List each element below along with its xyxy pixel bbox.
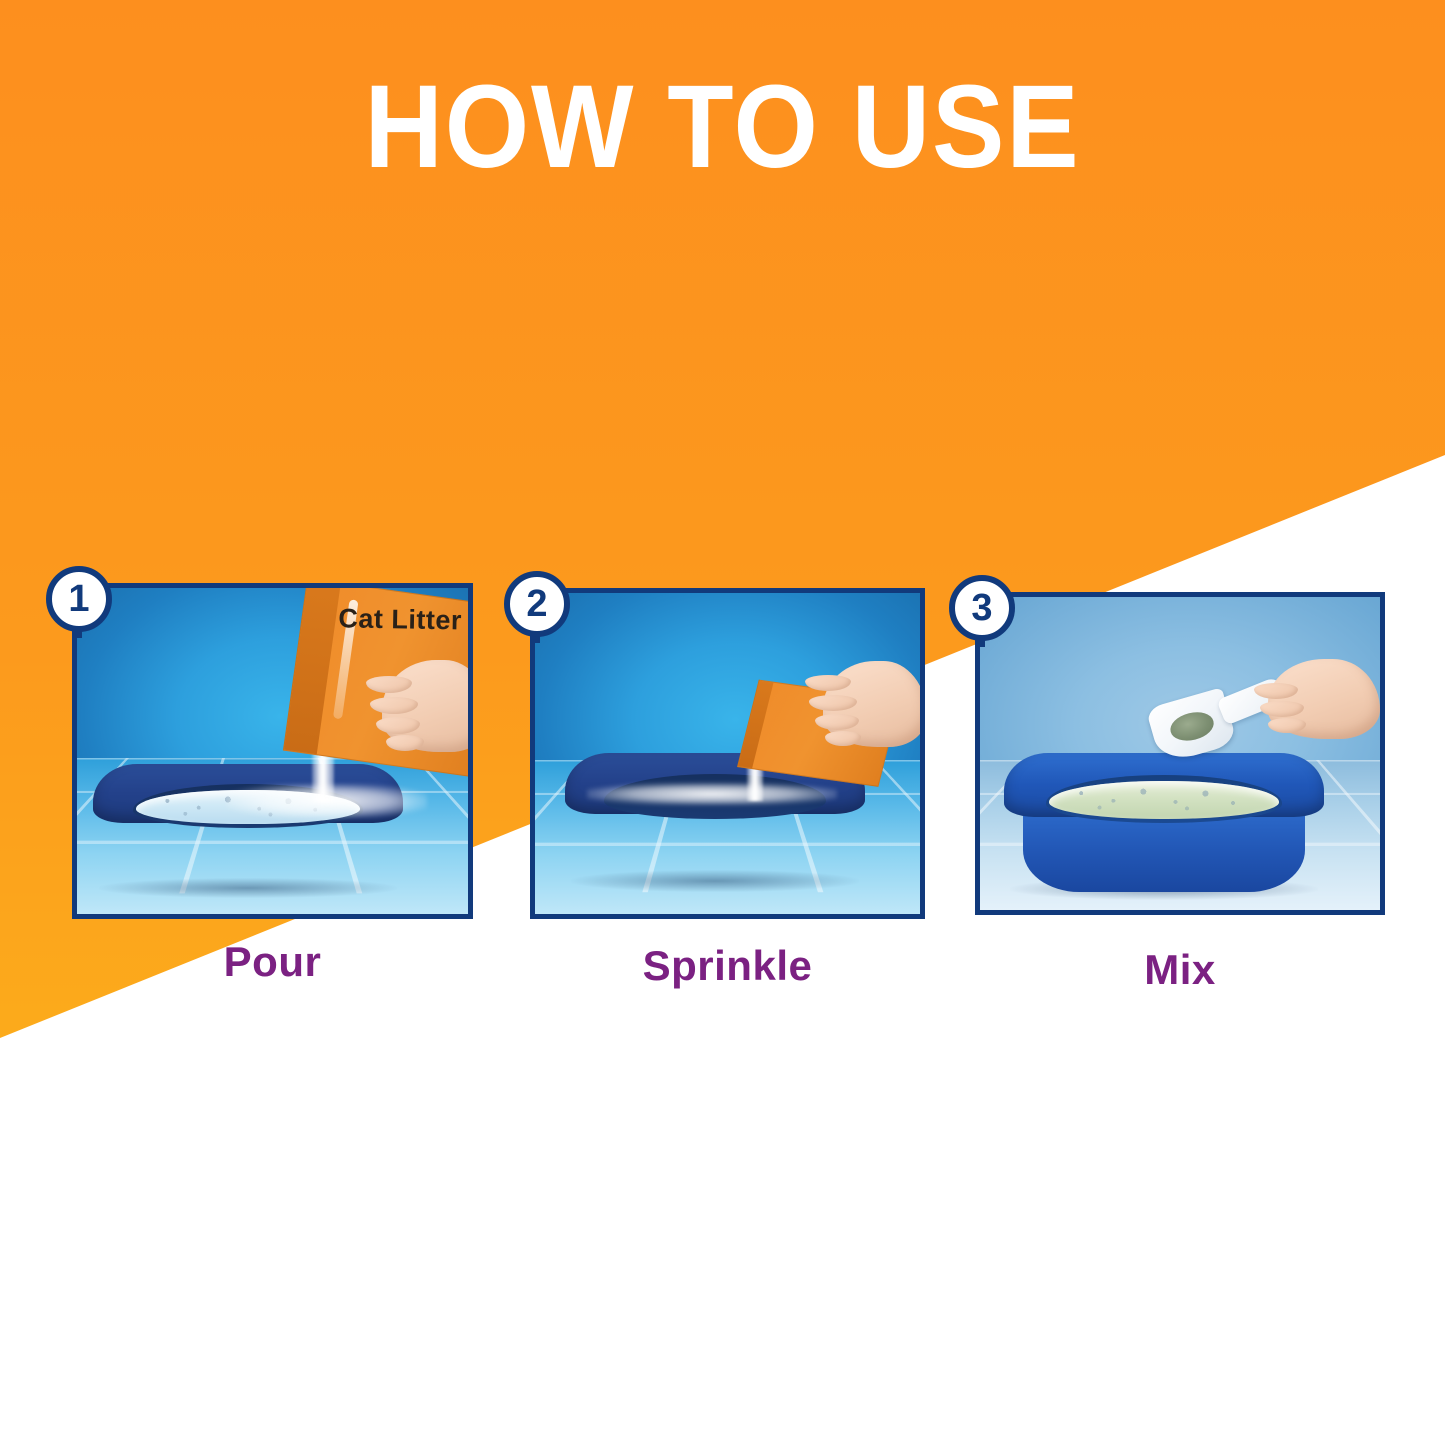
tray-litter: [1049, 781, 1279, 819]
step-1-scene: Cat Litter: [77, 588, 468, 914]
how-to-use-infographic: HOW TO USE: [0, 0, 1445, 1445]
step-panel-1: Cat Litter: [72, 583, 473, 919]
litter-grains: [1049, 781, 1279, 819]
step-2-scene: [535, 593, 920, 914]
litter-tray: [1004, 753, 1324, 893]
hand: [1268, 659, 1380, 739]
hand: [823, 661, 920, 747]
step-badge-3: 3: [949, 575, 1015, 641]
step-caption-2: Sprinkle: [530, 942, 925, 990]
step-caption-1: Pour: [72, 938, 473, 986]
hand: [382, 660, 468, 752]
step-badge-2: 2: [504, 571, 570, 637]
cat-litter-label: Cat Litter: [338, 604, 468, 638]
step-panel-2: [530, 588, 925, 919]
step-panel-3: [975, 592, 1385, 915]
step-badge-1: 1: [46, 566, 112, 632]
page-title: HOW TO USE: [58, 68, 1387, 186]
step-3-scene: [980, 597, 1380, 910]
sprinkle-spread: [587, 783, 837, 805]
step-caption-3: Mix: [975, 946, 1385, 994]
pour-spread: [227, 784, 427, 818]
